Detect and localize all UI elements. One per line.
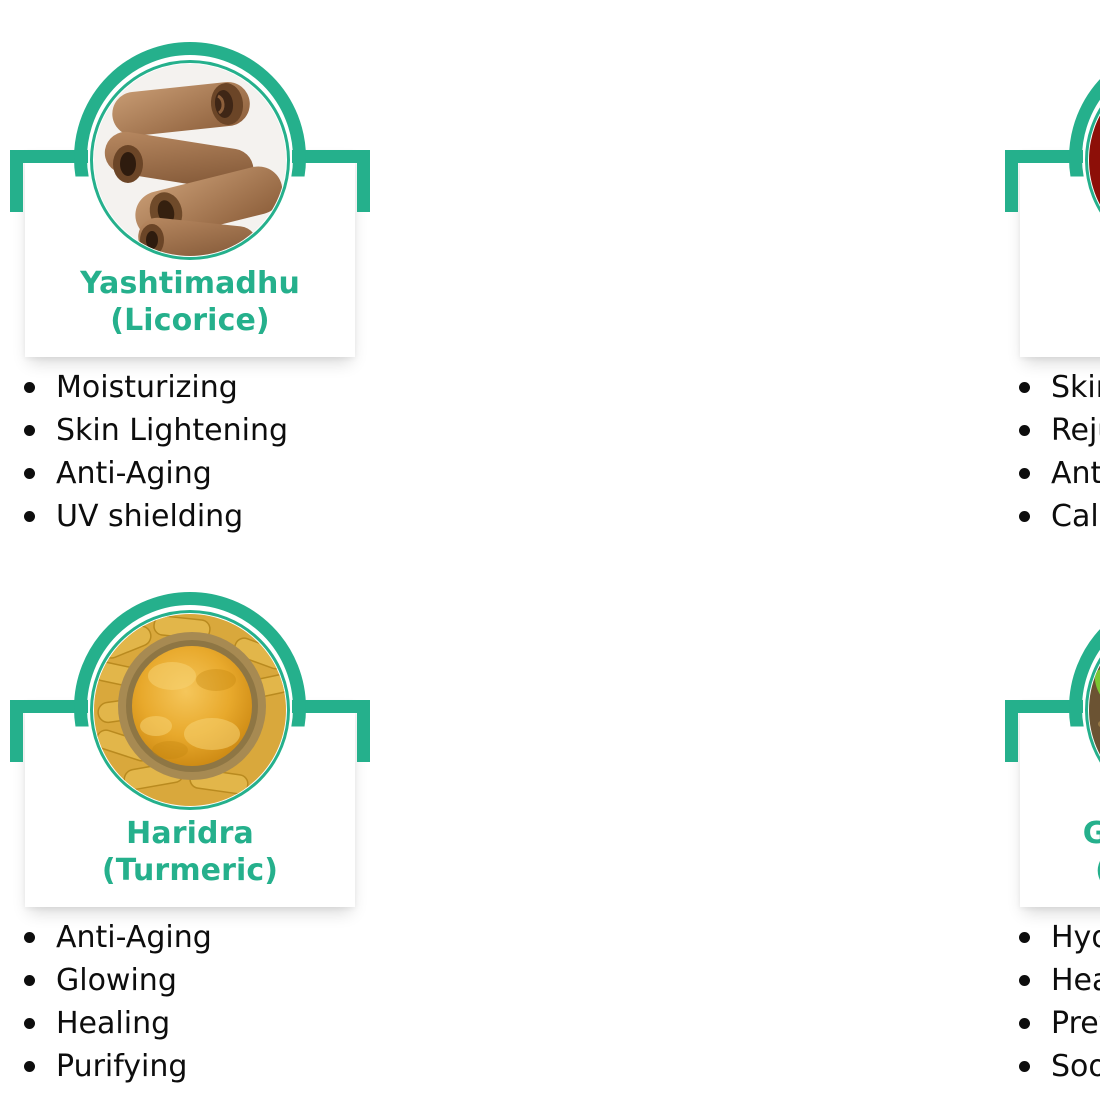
bullet-dot-icon	[24, 1018, 35, 1029]
benefit-item: Skin Lightening	[10, 409, 430, 452]
benefit-label: Purifying	[56, 1049, 187, 1084]
benefits-list-yashtimadhu: Moisturizing Skin Lightening Anti-Aging …	[10, 366, 430, 538]
benefit-label: Calming	[1051, 499, 1100, 534]
bullet-dot-icon	[1019, 468, 1030, 479]
benefit-label: Skin brightening	[1051, 370, 1100, 405]
bullet-dot-icon	[24, 468, 35, 479]
benefit-item: Anti-Aging	[10, 916, 430, 959]
bullet-dot-icon	[1019, 1061, 1030, 1072]
bullet-dot-icon	[1019, 975, 1030, 986]
benefit-label: Hydrating	[1051, 920, 1100, 955]
benefit-item: Anti-tanning	[1005, 452, 1100, 495]
ingredient-title: Jafran (Saffron)	[1020, 266, 1100, 339]
benefit-item: Glowing	[10, 959, 430, 1002]
title-line-1: Ghritkumari	[1020, 816, 1100, 853]
infographic-board: Yashtimadhu (Licorice) Moisturizing Skin…	[0, 0, 1100, 1100]
ingredient-cell-ghritkumari: Ghritkumari (AloeVera) Hydrating Healing…	[550, 550, 1100, 1100]
benefit-item: Preventing Acne	[1005, 1002, 1100, 1045]
benefit-item: Anti-Aging	[10, 452, 430, 495]
title-line-2: (Turmeric)	[25, 853, 355, 890]
bullet-dot-icon	[1019, 425, 1030, 436]
benefit-item: Calming	[1005, 495, 1100, 538]
title-line-1: Jafran	[1020, 266, 1100, 303]
ingredient-title: Haridra (Turmeric)	[25, 816, 355, 889]
ingredient-photo-haridra	[94, 614, 286, 806]
bullet-dot-icon	[1019, 511, 1030, 522]
ingredient-cell-jafran: Jafran (Saffron) Skin brightening Rejuve…	[550, 0, 1100, 550]
bullet-dot-icon	[24, 511, 35, 522]
benefit-label: Soothing	[1051, 1049, 1100, 1084]
title-line-1: Yashtimadhu	[25, 266, 355, 303]
bullet-dot-icon	[24, 975, 35, 986]
benefit-label: Anti-tanning	[1051, 456, 1100, 491]
ingredient-card: Haridra (Turmeric)	[10, 592, 370, 907]
benefit-item: Hydrating	[1005, 916, 1100, 959]
title-line-1: Haridra	[25, 816, 355, 853]
ingredient-title: Yashtimadhu (Licorice)	[25, 266, 355, 339]
ingredient-cell-haridra: Haridra (Turmeric) Anti-Aging Glowing He…	[0, 550, 550, 1100]
title-line-2: (Saffron)	[1020, 303, 1100, 340]
benefit-label: Rejuvenating	[1051, 413, 1100, 448]
benefit-item: Soothing	[1005, 1045, 1100, 1088]
title-line-2: (Licorice)	[25, 303, 355, 340]
bullet-dot-icon	[24, 1061, 35, 1072]
benefit-label: Moisturizing	[56, 370, 238, 405]
benefit-label: UV shielding	[56, 499, 243, 534]
benefit-item: Purifying	[10, 1045, 430, 1088]
benefit-label: Skin Lightening	[56, 413, 288, 448]
benefit-item: UV shielding	[10, 495, 430, 538]
benefit-label: Healing	[56, 1006, 170, 1041]
ingredient-card: Ghritkumari (AloeVera)	[1005, 592, 1100, 907]
benefits-list-haridra: Anti-Aging Glowing Healing Purifying	[10, 916, 430, 1088]
benefit-label: Glowing	[56, 963, 177, 998]
ingredient-title: Ghritkumari (AloeVera)	[1020, 816, 1100, 889]
benefit-label: Preventing Acne	[1051, 1006, 1100, 1041]
benefit-label: Anti-Aging	[56, 456, 212, 491]
benefit-label: Healing	[1051, 963, 1100, 998]
ingredient-card-grid: Yashtimadhu (Licorice) Moisturizing Skin…	[0, 0, 1100, 1100]
ingredient-cell-yashtimadhu: Yashtimadhu (Licorice) Moisturizing Skin…	[0, 0, 550, 550]
bullet-dot-icon	[24, 425, 35, 436]
bullet-dot-icon	[1019, 1018, 1030, 1029]
benefit-item: Healing	[1005, 959, 1100, 1002]
benefit-label: Anti-Aging	[56, 920, 212, 955]
ingredient-card: Yashtimadhu (Licorice)	[10, 42, 370, 357]
benefit-item: Healing	[10, 1002, 430, 1045]
ingredient-photo-yashtimadhu	[94, 64, 286, 256]
benefit-item: Skin brightening	[1005, 366, 1100, 409]
bullet-dot-icon	[1019, 382, 1030, 393]
bullet-dot-icon	[24, 932, 35, 943]
bullet-dot-icon	[24, 382, 35, 393]
benefits-list-jafran: Skin brightening Rejuvenating Anti-tanni…	[1005, 366, 1100, 538]
bullet-dot-icon	[1019, 932, 1030, 943]
benefits-list-ghritkumari: Hydrating Healing Preventing Acne Soothi…	[1005, 916, 1100, 1088]
benefit-item: Rejuvenating	[1005, 409, 1100, 452]
benefit-item: Moisturizing	[10, 366, 430, 409]
ingredient-card: Jafran (Saffron)	[1005, 42, 1100, 357]
title-line-2: (AloeVera)	[1020, 853, 1100, 890]
